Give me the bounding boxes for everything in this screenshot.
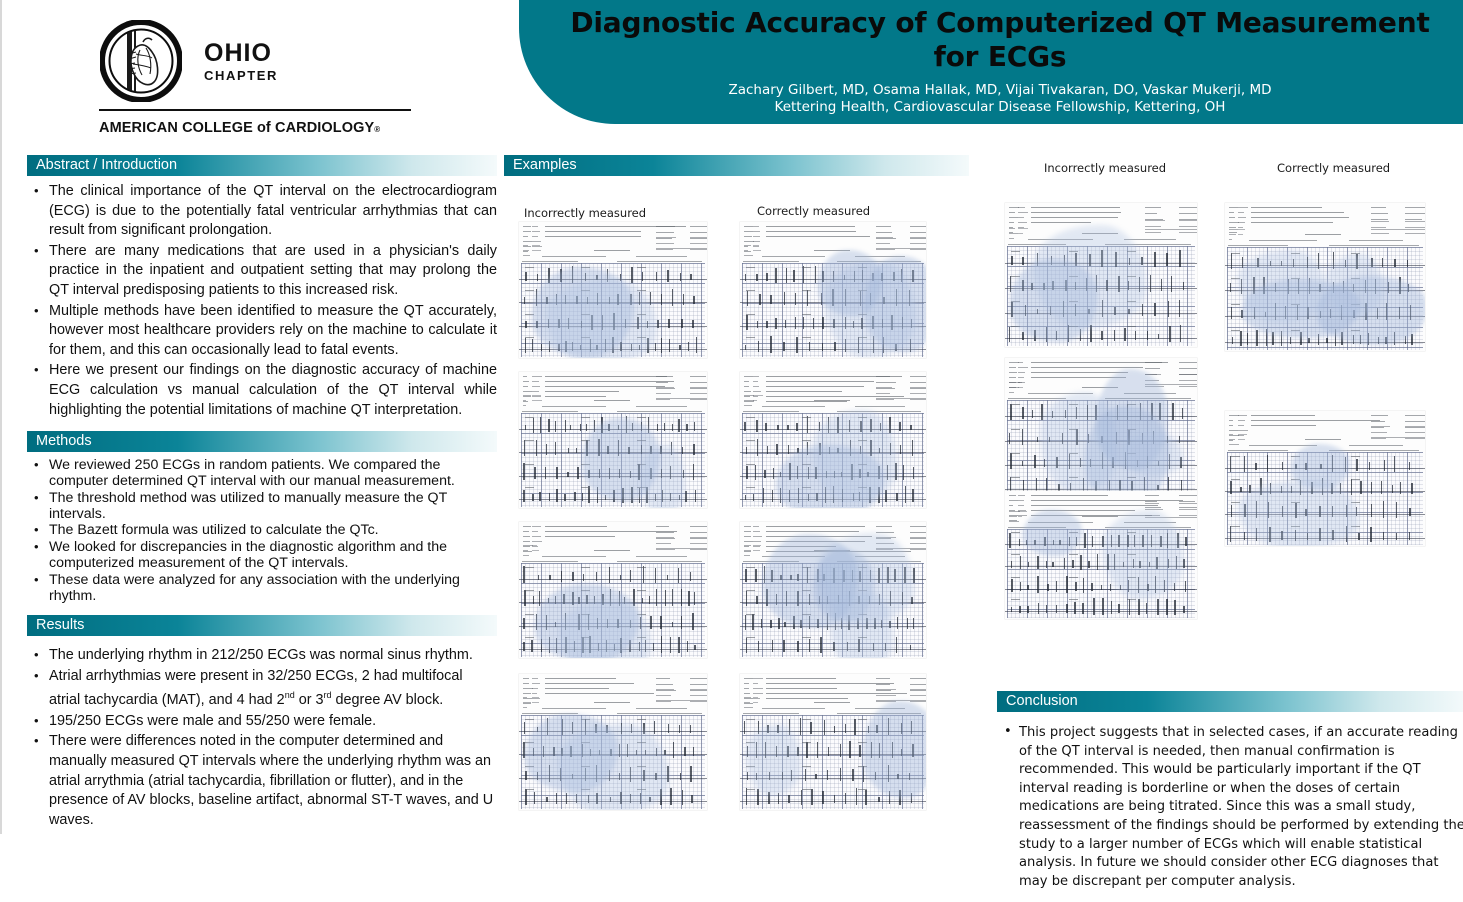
ecg-header-textline bbox=[744, 546, 749, 547]
ecg-qrs-spike bbox=[667, 270, 668, 282]
list-item: 195/250 ECGs were male and 55/250 were f… bbox=[27, 712, 497, 732]
ecg-qrs-spike bbox=[1166, 599, 1167, 614]
ecg-lead-label bbox=[1011, 404, 1020, 405]
ecg-header-textline bbox=[744, 693, 750, 694]
ecg-lead-label bbox=[746, 614, 755, 615]
ecg-header-textline bbox=[1238, 217, 1246, 218]
ecg-header-textline bbox=[532, 396, 541, 397]
ecg-qrs-spike bbox=[1027, 585, 1028, 591]
section-header-methods: Methods bbox=[27, 431, 497, 452]
ecg-qrs-spike bbox=[764, 470, 765, 478]
ecg-qrs-spike bbox=[1019, 606, 1020, 613]
ecg-header-textline bbox=[1371, 233, 1389, 234]
ecg-qrs-spike bbox=[643, 566, 644, 583]
ecg-qrs-spike bbox=[1110, 584, 1111, 591]
ecg-qrs-spike bbox=[766, 273, 767, 281]
list-item: Atrial arrhythmias were present in 32/25… bbox=[27, 667, 497, 711]
ecg-header-textline bbox=[523, 693, 531, 694]
ecg-qrs-spike bbox=[1022, 429, 1023, 446]
ecg-header-textline bbox=[1229, 234, 1236, 235]
logo-chapter-name: OHIO bbox=[204, 40, 278, 66]
ecg-header-textline bbox=[762, 256, 825, 257]
ecg-scan-artifact bbox=[1033, 225, 1145, 329]
ecg-lead-label bbox=[581, 567, 590, 568]
ecg-header-textline bbox=[532, 683, 540, 684]
list-item: We reviewed 250 ECGs in random patients.… bbox=[27, 458, 497, 490]
ecg-header-textline bbox=[656, 399, 670, 400]
ecg-qrs-spike bbox=[1370, 527, 1371, 542]
ecg-qrs-spike bbox=[1230, 526, 1231, 542]
conclusion-bullet-list: This project suggests that in selected c… bbox=[997, 724, 1463, 891]
ecg-header-textline bbox=[910, 382, 926, 383]
ecg-header-textline bbox=[1371, 432, 1387, 433]
ecg-qrs-spike bbox=[806, 742, 807, 758]
ecg-qrs-spike bbox=[523, 566, 524, 583]
ecg-header-textline bbox=[766, 526, 865, 527]
ecg-qrs-spike bbox=[913, 618, 914, 629]
ecg-header-textline bbox=[1228, 450, 1288, 451]
ecg-thumbnail[interactable] bbox=[740, 522, 926, 658]
ecg-qrs-spike bbox=[642, 598, 643, 604]
ecg-header-textline bbox=[532, 381, 539, 382]
ecg-qrs-spike bbox=[759, 294, 760, 304]
ecg-header-textline bbox=[522, 561, 578, 562]
ecg-qrs-spike bbox=[1011, 256, 1012, 265]
ecg-qrs-spike bbox=[690, 274, 691, 280]
ecg-qrs-spike bbox=[1185, 581, 1186, 591]
poster-canvas: OHIO CHAPTER AMERICAN COLLEGE of CARDIOL… bbox=[0, 0, 1463, 834]
ecg-qrs-spike bbox=[778, 618, 779, 628]
affiliation-line: Kettering Health, Cardiovascular Disease… bbox=[559, 99, 1441, 116]
ecg-header-textline bbox=[1009, 392, 1014, 393]
ecg-header-textline bbox=[1405, 207, 1425, 208]
ecg-qrs-spike bbox=[1066, 576, 1067, 594]
ecg-header-textline bbox=[1229, 227, 1236, 228]
ecg-header-textline bbox=[532, 386, 540, 387]
ecg-qrs-spike bbox=[541, 344, 542, 351]
ecg-thumbnail[interactable] bbox=[740, 372, 926, 508]
ecg-qrs-spike bbox=[533, 418, 534, 433]
ecg-qrs-spike bbox=[693, 464, 694, 480]
ecg-lead-label bbox=[1011, 577, 1020, 578]
ecg-qrs-spike bbox=[1255, 463, 1256, 469]
ecg-qrs-spike bbox=[766, 321, 767, 328]
ecg-header-textline bbox=[744, 688, 749, 689]
ecg-lead-label bbox=[746, 567, 755, 568]
ecg-qrs-spike bbox=[810, 722, 811, 735]
examples-label-incorrect: Incorrectly measured bbox=[524, 206, 646, 220]
ecg-lead-label bbox=[746, 267, 755, 268]
ecg-qrs-spike bbox=[1371, 504, 1372, 518]
ecg-lead-label bbox=[1351, 456, 1360, 457]
ecg-qrs-spike bbox=[1046, 561, 1047, 568]
ecg-qrs-spike bbox=[655, 343, 656, 351]
ecg-header-textline bbox=[542, 708, 606, 709]
ecg-header-textline bbox=[753, 250, 761, 251]
ecg-header-textline bbox=[532, 526, 541, 527]
ecg-thumbnail[interactable] bbox=[1005, 358, 1197, 498]
ecg-qrs-spike bbox=[1010, 453, 1011, 469]
ecg-header-textline bbox=[1031, 222, 1091, 223]
ecg-header-textline bbox=[876, 526, 892, 527]
ecg-header-textline bbox=[523, 245, 528, 246]
ecg-header-textline bbox=[744, 245, 751, 246]
ecg-lead-label bbox=[858, 719, 867, 720]
right-label-correct: Correctly measured bbox=[1277, 161, 1390, 175]
ecg-qrs-spike bbox=[679, 345, 680, 351]
ecg-qrs-spike bbox=[1231, 307, 1232, 319]
ecg-qrs-spike bbox=[912, 489, 913, 503]
ecg-header-textline bbox=[690, 249, 707, 250]
ecg-qrs-spike bbox=[1169, 326, 1170, 342]
ecg-qrs-spike bbox=[845, 724, 846, 733]
ecg-header-textline bbox=[523, 678, 529, 679]
ecg-qrs-spike bbox=[1230, 481, 1231, 495]
ecg-header-textline bbox=[532, 245, 540, 246]
ecg-header-textline bbox=[1405, 438, 1425, 439]
ecg-qrs-spike bbox=[856, 788, 857, 806]
ecg-header-textline bbox=[910, 388, 926, 389]
ecg-header-textline bbox=[522, 411, 578, 412]
ecg-header-textline bbox=[1371, 227, 1386, 228]
ecg-qrs-spike bbox=[549, 575, 550, 580]
ecg-qrs-spike bbox=[1075, 582, 1076, 591]
ecg-header-textline bbox=[1251, 207, 1322, 208]
ecg-qrs-spike bbox=[1147, 331, 1148, 340]
ecg-header-textline bbox=[753, 400, 757, 401]
ecg-header-textline bbox=[545, 391, 619, 392]
ecg-thumbnail[interactable] bbox=[740, 222, 926, 358]
ecg-qrs-spike bbox=[757, 789, 758, 805]
ecg-qrs-spike bbox=[775, 318, 776, 329]
ecg-header-textline bbox=[1229, 207, 1238, 208]
ecg-lead-label bbox=[746, 487, 755, 488]
ecg-header-textline bbox=[1018, 511, 1027, 512]
ecg-header-textline bbox=[753, 246, 759, 247]
ecg-header-textline bbox=[876, 376, 890, 377]
ecg-header-textline bbox=[910, 387, 926, 388]
ecg-qrs-spike bbox=[770, 620, 771, 628]
ecg-header-textline bbox=[1031, 372, 1128, 373]
ecg-header-textline bbox=[545, 683, 634, 684]
ecg-thumbnail[interactable] bbox=[519, 222, 707, 358]
ecg-header-textline bbox=[814, 702, 850, 703]
ecg-thumbnail[interactable] bbox=[1005, 491, 1197, 619]
ecg-qrs-spike bbox=[767, 446, 768, 454]
ecg-qrs-spike bbox=[1090, 325, 1091, 342]
logo-org-label: AMERICAN COLLEGE of CARDIOLOGY bbox=[99, 120, 374, 136]
ecg-qrs-spike bbox=[664, 423, 665, 432]
ecg-qrs-spike bbox=[859, 745, 860, 757]
ecg-lead-label bbox=[802, 742, 811, 743]
ecg-header-textline bbox=[876, 690, 891, 691]
ecg-header-textline bbox=[1018, 212, 1028, 213]
ecg-lead-label bbox=[1011, 429, 1020, 430]
ecg-header-textline bbox=[523, 555, 529, 556]
logo-org-name: AMERICAN COLLEGE of CARDIOLOGY® bbox=[99, 120, 429, 136]
page-title: Diagnostic Accuracy of Computerized QT M… bbox=[559, 4, 1441, 74]
ecg-qrs-spike bbox=[1101, 585, 1102, 591]
ecg-qrs-spike bbox=[556, 467, 557, 479]
ecg-header-textline bbox=[1229, 239, 1232, 240]
ecg-thumbnail[interactable] bbox=[1005, 203, 1197, 347]
ecg-header-textline bbox=[523, 395, 531, 396]
ecg-qrs-spike bbox=[690, 725, 691, 733]
ecg-qrs-spike bbox=[564, 494, 565, 500]
ecg-header-textline bbox=[1179, 220, 1197, 221]
ecg-qrs-spike bbox=[525, 338, 526, 352]
ecg-thumbnail[interactable] bbox=[519, 674, 707, 810]
ecg-header-textline bbox=[744, 550, 751, 551]
ecg-header-textline bbox=[690, 399, 707, 400]
ecg-qrs-spike bbox=[1351, 479, 1352, 494]
ecg-qrs-spike bbox=[865, 790, 866, 805]
ecg-qrs-spike bbox=[1290, 337, 1291, 343]
ecg-qrs-spike bbox=[1326, 338, 1327, 343]
ecg-header-textline bbox=[1009, 228, 1015, 229]
section-header-examples: Examples bbox=[504, 155, 969, 176]
ecg-header-textline bbox=[744, 250, 748, 251]
ecg-header-textline bbox=[1229, 212, 1234, 213]
ecg-header-textline bbox=[1009, 377, 1016, 378]
ecg-header-textline bbox=[1009, 238, 1014, 239]
ecg-header-textline bbox=[1018, 222, 1027, 223]
ecg-qrs-spike bbox=[1179, 300, 1180, 317]
ecg-header-textline bbox=[545, 396, 606, 397]
ecg-header-textline bbox=[744, 236, 752, 237]
ecg-header-textline bbox=[545, 526, 607, 527]
ecg-header-textline bbox=[1031, 207, 1120, 208]
ecg-header-textline bbox=[1009, 233, 1018, 234]
ecg-qrs-spike bbox=[1142, 304, 1143, 317]
ecg-header-textline bbox=[744, 678, 753, 679]
ecg-header-textline bbox=[766, 531, 859, 532]
ecg-header-textline bbox=[545, 381, 674, 382]
ecg-header-textline bbox=[876, 388, 895, 389]
ecg-header-textline bbox=[876, 237, 893, 238]
ecg-thumbnail[interactable] bbox=[519, 522, 707, 658]
ecg-lead-label bbox=[637, 719, 646, 720]
ecg-scan-artifact bbox=[1123, 433, 1184, 476]
ecg-qrs-spike bbox=[1020, 556, 1021, 569]
ecg-lead-label bbox=[1231, 479, 1240, 480]
ecg-qrs-spike bbox=[822, 791, 823, 805]
ecg-qrs-spike bbox=[747, 772, 748, 780]
ecg-header-textline bbox=[1009, 516, 1017, 517]
ecg-qrs-spike bbox=[1231, 505, 1232, 517]
ecg-qrs-spike bbox=[534, 467, 535, 479]
ecg-scan-artifact bbox=[1103, 510, 1183, 598]
ecg-thumbnail[interactable] bbox=[740, 674, 926, 810]
ecg-qrs-spike bbox=[1244, 456, 1245, 472]
results-bullet-list: The underlying rhythm in 212/250 ECGs wa… bbox=[27, 646, 497, 830]
middle-column: Examples Incorrectly measured Correctly … bbox=[504, 155, 969, 222]
ecg-qrs-spike bbox=[568, 448, 569, 453]
ecg-header-textline bbox=[1405, 415, 1425, 416]
ecg-header-textline bbox=[744, 391, 751, 392]
ecg-header-textline bbox=[532, 688, 538, 689]
ecg-qrs-spike bbox=[1072, 560, 1073, 567]
ecg-header-textline bbox=[545, 536, 615, 537]
ecg-thumbnail[interactable] bbox=[1225, 203, 1425, 351]
examples-label-correct: Correctly measured bbox=[757, 204, 870, 218]
ecg-qrs-spike bbox=[770, 336, 771, 353]
ecg-header-textline bbox=[532, 395, 541, 396]
ecg-lead-label bbox=[1011, 251, 1020, 252]
ecg-header-textline bbox=[766, 678, 836, 679]
ecg-qrs-spike bbox=[1182, 408, 1183, 419]
ecg-header-textline bbox=[656, 689, 674, 690]
ecg-header-textline bbox=[1179, 213, 1197, 214]
ecg-header-textline bbox=[656, 387, 674, 388]
ecg-header-textline bbox=[545, 678, 616, 679]
ecg-qrs-spike bbox=[777, 425, 778, 430]
ecg-lead-label bbox=[1011, 599, 1020, 600]
ecg-header-textline bbox=[744, 381, 749, 382]
ecg-header-textline bbox=[1179, 207, 1197, 208]
ecg-qrs-spike bbox=[755, 465, 756, 479]
ecg-qrs-spike bbox=[758, 641, 759, 652]
ecg-qrs-spike bbox=[533, 596, 534, 604]
ecg-qrs-spike bbox=[524, 297, 525, 304]
ecg-qrs-spike bbox=[1179, 436, 1180, 442]
ecg-lead-label bbox=[525, 719, 534, 720]
ecg-header-textline bbox=[910, 690, 926, 691]
ecg-header-textline bbox=[876, 382, 896, 383]
ecg-lead-label bbox=[1069, 599, 1078, 600]
ecg-header-textline bbox=[1329, 245, 1419, 246]
ecg-header-textline bbox=[545, 693, 654, 694]
ecg-header-textline bbox=[1009, 505, 1013, 506]
ecg-qrs-spike bbox=[795, 293, 796, 305]
ecg-header-textline bbox=[690, 237, 707, 238]
ecg-qrs-spike bbox=[1022, 407, 1023, 419]
ecg-header-textline bbox=[690, 549, 707, 550]
ecg-qrs-spike bbox=[811, 789, 812, 805]
ecg-header-textline bbox=[1031, 217, 1118, 218]
ecg-lead-label bbox=[802, 337, 811, 338]
ecg-header-textline bbox=[1179, 515, 1197, 516]
ecg-header-textline bbox=[690, 243, 707, 244]
ecg-header-textline bbox=[523, 683, 529, 684]
ecg-header-textline bbox=[876, 243, 890, 244]
ecg-qrs-spike bbox=[1038, 603, 1039, 613]
ecg-header-textline bbox=[1371, 426, 1390, 427]
ecg-header-textline bbox=[656, 237, 676, 238]
ecg-qrs-spike bbox=[672, 589, 673, 607]
ecg-qrs-spike bbox=[567, 472, 568, 477]
ecg-header-textline bbox=[753, 531, 760, 532]
ecg-qrs-spike bbox=[1267, 455, 1268, 473]
ecg-header-textline bbox=[743, 713, 799, 714]
ecg-qrs-spike bbox=[692, 613, 693, 631]
ecg-qrs-spike bbox=[523, 642, 524, 651]
ecg-thumbnail[interactable] bbox=[1225, 411, 1425, 546]
ecg-qrs-spike bbox=[758, 341, 759, 351]
ecg-qrs-spike bbox=[745, 495, 746, 500]
ecg-header-textline bbox=[910, 243, 926, 244]
ecg-header-textline bbox=[690, 393, 707, 394]
ecg-qrs-spike bbox=[546, 444, 547, 454]
ecg-header-textline bbox=[594, 550, 630, 551]
ecg-header-textline bbox=[762, 708, 825, 709]
ecg-header-textline bbox=[1145, 507, 1161, 508]
ecg-header-textline bbox=[1179, 232, 1197, 233]
ecg-qrs-spike bbox=[680, 773, 681, 779]
ecg-lead-label bbox=[525, 337, 534, 338]
ecg-qrs-spike bbox=[694, 592, 695, 605]
ecg-header-textline bbox=[1229, 232, 1237, 233]
ecg-header-textline bbox=[744, 531, 751, 532]
ecg-header-textline bbox=[1229, 439, 1235, 440]
ecg-header-textline bbox=[766, 698, 848, 699]
ecg-scan-artifact bbox=[863, 701, 926, 798]
ecg-qrs-spike bbox=[656, 272, 657, 281]
ecg-header-textline bbox=[523, 246, 531, 247]
ecg-header-textline bbox=[690, 388, 707, 389]
ecg-qrs-spike bbox=[695, 490, 696, 502]
ecg-header-textline bbox=[1145, 232, 1161, 233]
ecg-header-textline bbox=[656, 376, 673, 377]
ecg-qrs-spike bbox=[763, 488, 764, 503]
ecg-scan-artifact bbox=[1326, 254, 1384, 317]
ecg-qrs-spike bbox=[1154, 252, 1155, 267]
ecg-qrs-spike bbox=[582, 493, 583, 500]
ecg-qrs-spike bbox=[523, 490, 524, 502]
ecg-qrs-spike bbox=[797, 641, 798, 652]
ecg-thumbnail[interactable] bbox=[519, 372, 707, 508]
ecg-header-textline bbox=[876, 249, 895, 250]
ecg-header-textline bbox=[744, 396, 750, 397]
ecg-lead-label bbox=[637, 417, 646, 418]
ecg-qrs-spike bbox=[684, 747, 685, 756]
ecg-qrs-spike bbox=[815, 266, 816, 283]
ecg-header-textline bbox=[636, 708, 687, 709]
ecg-qrs-spike bbox=[752, 614, 753, 630]
ecg-header-textline bbox=[523, 381, 529, 382]
ecg-header-textline bbox=[594, 400, 630, 401]
ecg-header-textline bbox=[753, 396, 758, 397]
ecg-header-textline bbox=[532, 678, 538, 679]
ecg-qrs-spike bbox=[555, 421, 556, 431]
ecg-header-textline bbox=[1145, 207, 1161, 208]
ecg-lead-label bbox=[802, 637, 811, 638]
ecg-header-textline bbox=[910, 678, 926, 679]
ecg-header-textline bbox=[1179, 495, 1197, 496]
ecg-qrs-spike bbox=[1394, 456, 1395, 472]
ecg-qrs-spike bbox=[670, 637, 671, 653]
ecg-qrs-spike bbox=[1027, 606, 1028, 612]
ecg-header-textline bbox=[910, 249, 926, 250]
ecg-qrs-spike bbox=[570, 425, 571, 431]
section-abstract: Abstract / Introduction The clinical imp… bbox=[27, 155, 497, 420]
ecg-qrs-spike bbox=[574, 492, 575, 502]
ecg-qrs-spike bbox=[803, 317, 804, 329]
ecg-header-textline bbox=[1018, 372, 1025, 373]
ecg-header-textline bbox=[523, 251, 528, 252]
ecg-header-textline bbox=[1249, 240, 1317, 241]
ecg-header-textline bbox=[876, 232, 892, 233]
ecg-qrs-spike bbox=[555, 442, 556, 456]
ecg-qrs-spike bbox=[687, 641, 688, 652]
ecg-qrs-spike bbox=[745, 615, 746, 630]
ecg-header-textline bbox=[1238, 212, 1244, 213]
ecg-qrs-spike bbox=[525, 771, 526, 780]
ecg-qrs-spike bbox=[910, 425, 911, 430]
ecg-header-textline bbox=[532, 376, 542, 377]
ecg-qrs-spike bbox=[746, 638, 747, 653]
ecg-qrs-spike bbox=[690, 766, 691, 782]
